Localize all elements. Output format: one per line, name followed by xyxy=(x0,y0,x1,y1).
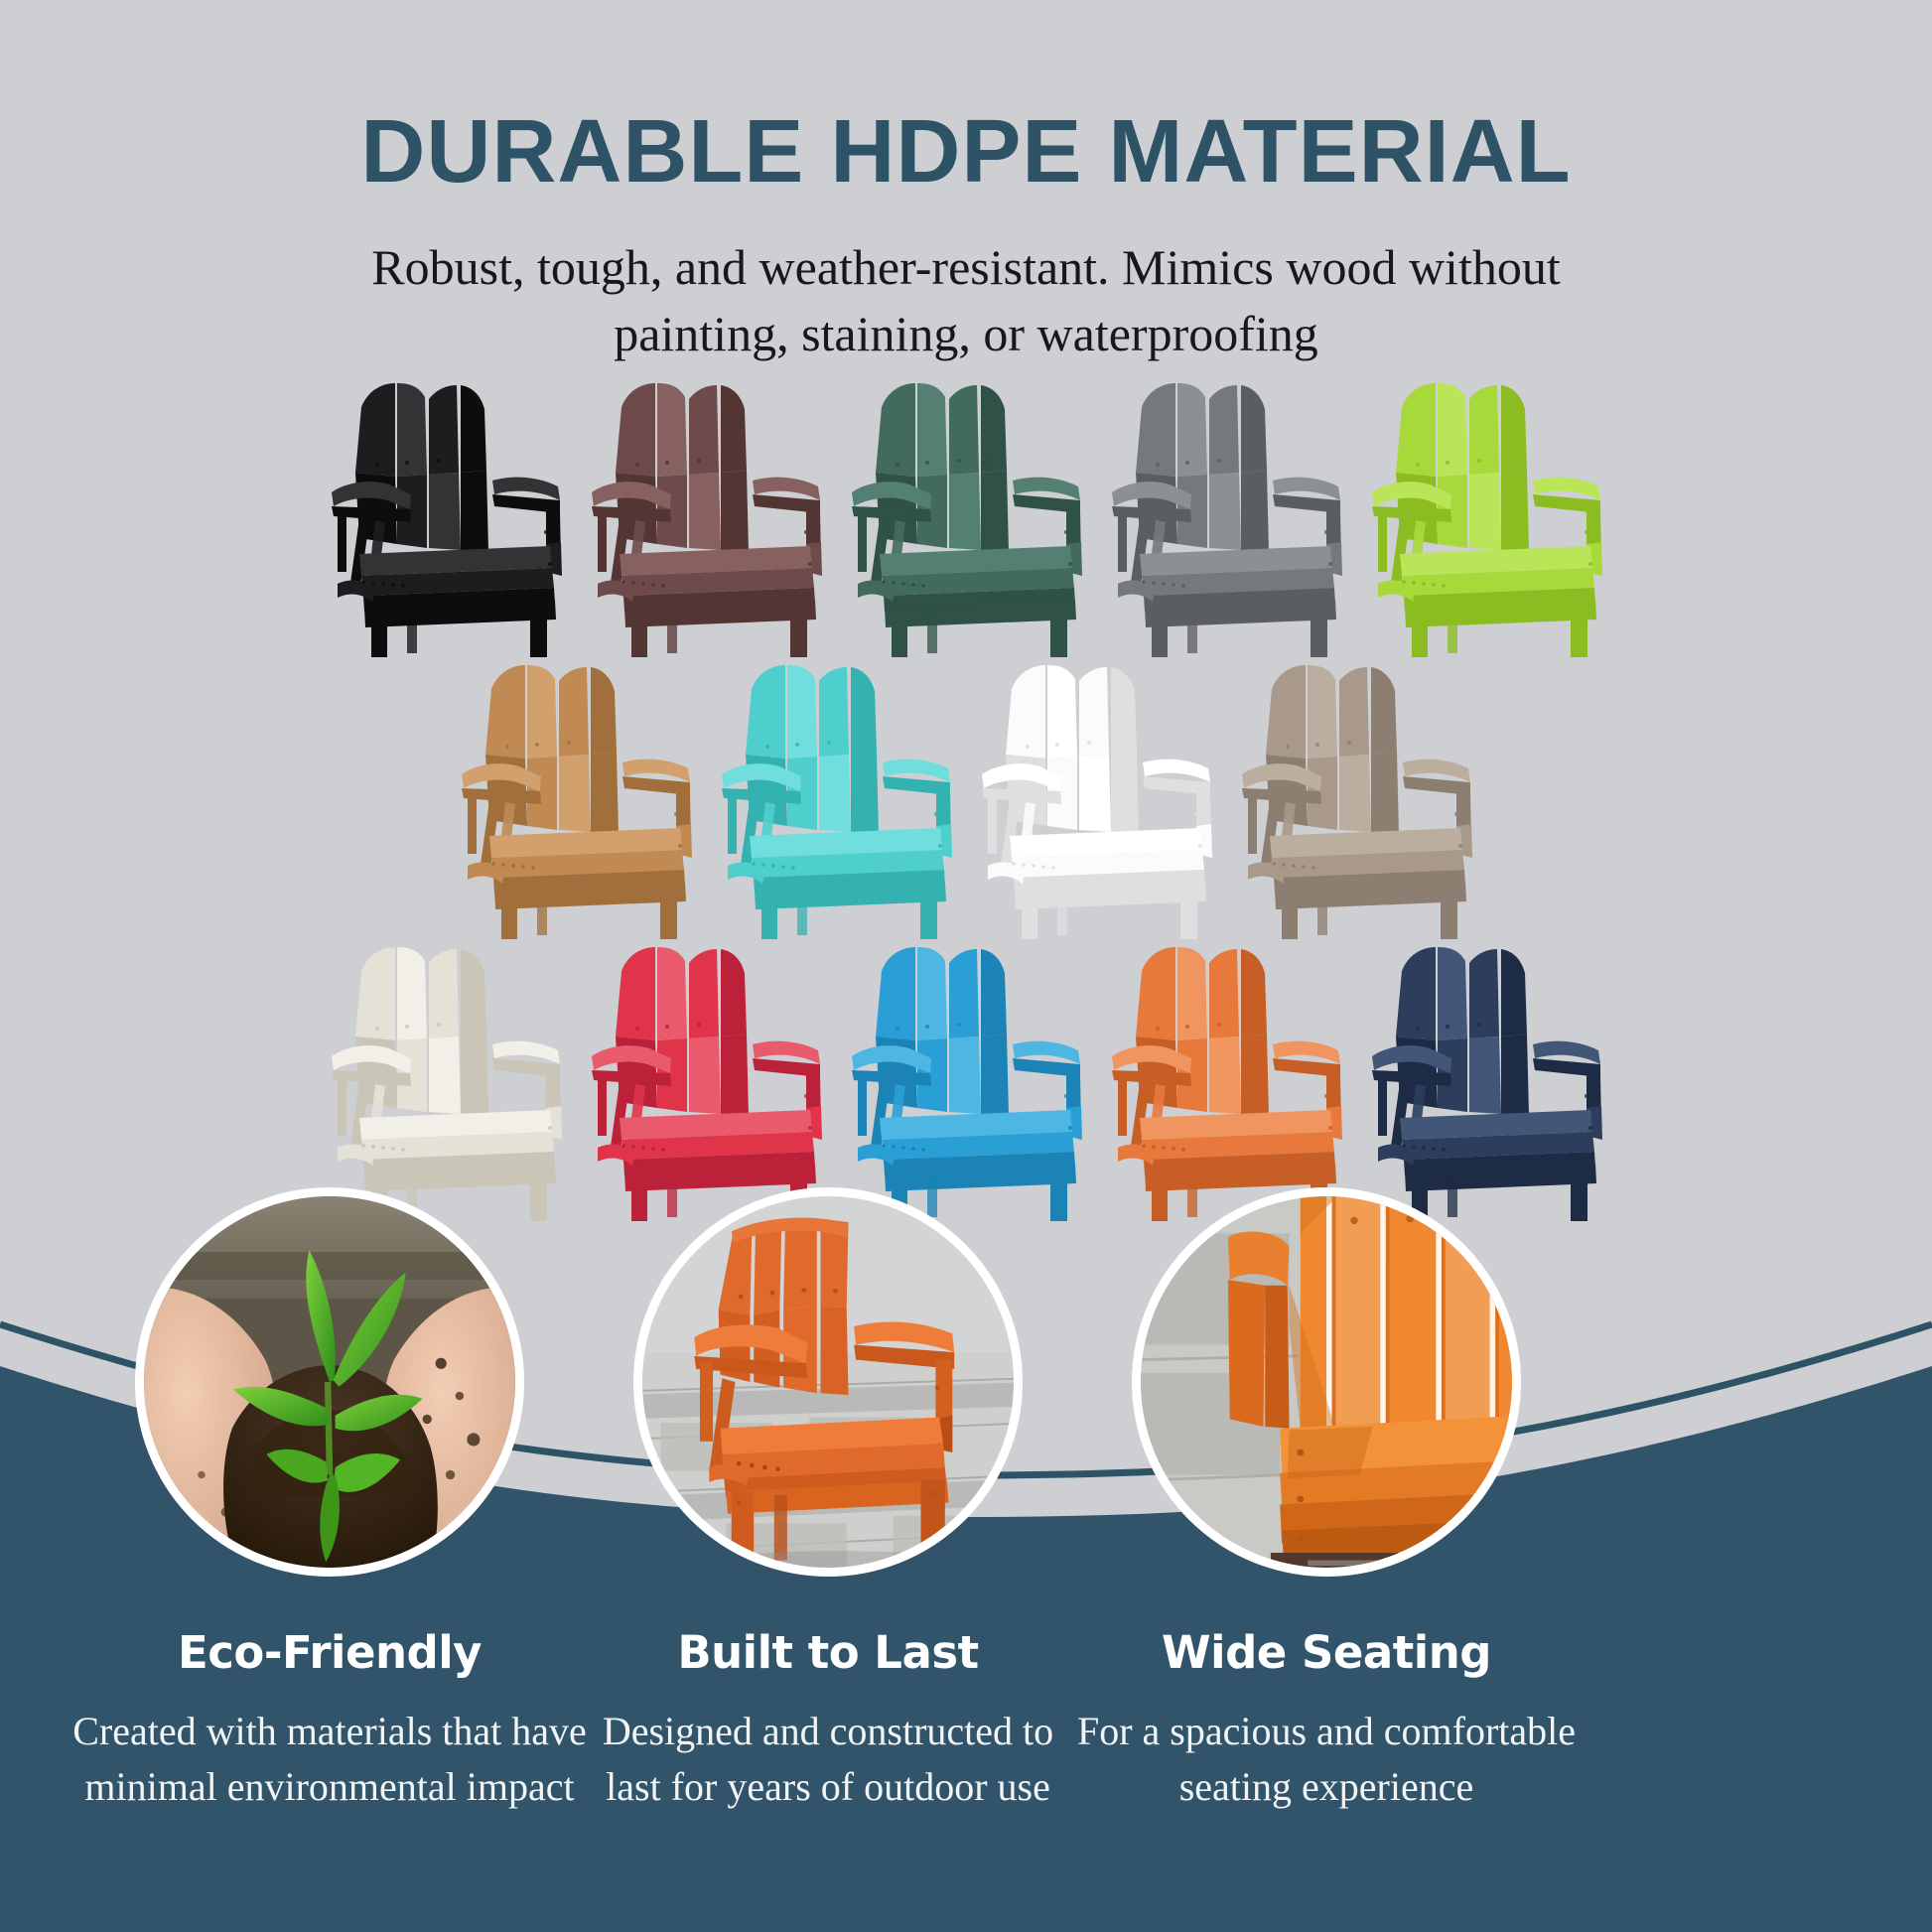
chair-right-armrest xyxy=(622,759,690,795)
feature-desc-line-1: Created with materials that have xyxy=(52,1704,608,1760)
hands-holding-seedling-icon xyxy=(144,1196,515,1568)
chair-right-armrest xyxy=(1143,759,1210,795)
feature-title: Wide Seating xyxy=(1048,1628,1604,1678)
chair-right-armrest xyxy=(753,478,820,513)
chair-right-armrest xyxy=(492,1041,560,1077)
feature-description: Designed and constructed to last for yea… xyxy=(550,1704,1106,1817)
orange-chair-seat-closeup-photo xyxy=(1141,1196,1512,1568)
chair-right-armrest xyxy=(1273,478,1340,513)
chair-right-armrest xyxy=(1013,1041,1080,1077)
adirondack-chair-black xyxy=(316,369,576,657)
chair-swatch-row-3 xyxy=(0,933,1932,1221)
chair-swatch-white[interactable] xyxy=(966,651,1226,939)
adirondack-chair-white xyxy=(966,651,1226,939)
chair-swatch-dark-brown[interactable] xyxy=(576,369,836,657)
feature-block-eco-friendly: Eco-Friendly Created with materials that… xyxy=(52,1628,608,1816)
hands-seedling-photo xyxy=(144,1196,515,1568)
chair-swatch-ivory[interactable] xyxy=(316,933,576,1221)
chair-swatch-blue[interactable] xyxy=(836,933,1096,1221)
chair-back-slats xyxy=(746,665,877,759)
feature-desc-line-2: last for years of outdoor use xyxy=(550,1759,1106,1816)
adirondack-chair-turquoise xyxy=(706,651,966,939)
chair-back-slats xyxy=(876,947,1007,1040)
chair-back-slats xyxy=(876,383,1007,477)
feature-title: Built to Last xyxy=(550,1628,1106,1678)
chair-back-slats xyxy=(355,383,486,477)
wide-seat-closeup-icon xyxy=(1141,1196,1512,1568)
feature-desc-line-1: For a spacious and comfortable xyxy=(1048,1704,1604,1760)
adirondack-chair-navy xyxy=(1356,933,1616,1221)
chair-swatch-navy[interactable] xyxy=(1356,933,1616,1221)
adirondack-chair-dark-brown xyxy=(576,369,836,657)
feature-description: Created with materials that have minimal… xyxy=(52,1704,608,1817)
chair-right-armrest xyxy=(753,1041,820,1077)
chair-swatch-black[interactable] xyxy=(316,369,576,657)
subtitle-line-1: Robust, tough, and weather-resistant. Mi… xyxy=(0,234,1932,301)
chair-swatch-weathered-wood[interactable] xyxy=(1226,651,1486,939)
chair-right-armrest xyxy=(492,478,560,513)
chair-back-slats xyxy=(1396,383,1527,477)
header-section: DURABLE HDPE MATERIAL Robust, tough, and… xyxy=(0,0,1932,367)
feature-image-built-to-last xyxy=(633,1187,1023,1577)
chair-back-slats xyxy=(1006,665,1137,759)
chair-swatch-row-1 xyxy=(0,369,1932,657)
feature-block-wide-seating: Wide Seating For a spacious and comforta… xyxy=(1048,1628,1604,1816)
chair-back-slats xyxy=(1136,383,1267,477)
chair-back-slats xyxy=(616,383,747,477)
chair-right-armrest xyxy=(1013,478,1080,513)
adirondack-chair-teak xyxy=(446,651,706,939)
chair-swatch-lime-green[interactable] xyxy=(1356,369,1616,657)
chair-swatch-red[interactable] xyxy=(576,933,836,1221)
feature-desc-line-2: minimal environmental impact xyxy=(52,1759,608,1816)
orange-chair-patio-photo xyxy=(642,1196,1014,1568)
feature-block-built-to-last: Built to Last Designed and constructed t… xyxy=(550,1628,1106,1816)
adirondack-chair-gray xyxy=(1096,369,1356,657)
chair-right-armrest xyxy=(1273,1041,1340,1077)
chair-right-armrest xyxy=(1533,1041,1600,1077)
page-title: DURABLE HDPE MATERIAL xyxy=(0,107,1932,197)
adirondack-chair-blue xyxy=(836,933,1096,1221)
chair-swatch-teak[interactable] xyxy=(446,651,706,939)
chair-back-slats xyxy=(616,947,747,1040)
page-subtitle: Robust, tough, and weather-resistant. Mi… xyxy=(0,234,1932,367)
chair-swatch-dark-green[interactable] xyxy=(836,369,1096,657)
feature-image-eco-friendly xyxy=(135,1187,524,1577)
chair-swatch-orange[interactable] xyxy=(1096,933,1356,1221)
feature-title: Eco-Friendly xyxy=(52,1628,608,1678)
chair-right-armrest xyxy=(883,759,950,795)
adirondack-chair-lime-green xyxy=(1356,369,1616,657)
subtitle-line-2: painting, staining, or waterproofing xyxy=(0,301,1932,367)
chair-back-slats xyxy=(1396,947,1527,1040)
adirondack-chair-weathered-wood xyxy=(1226,651,1486,939)
feature-desc-line-2: seating experience xyxy=(1048,1759,1604,1816)
adirondack-chair-red xyxy=(576,933,836,1221)
chair-swatch-gray[interactable] xyxy=(1096,369,1356,657)
adirondack-chair-dark-green xyxy=(836,369,1096,657)
chair-right-armrest xyxy=(1403,759,1470,795)
chair-swatch-turquoise[interactable] xyxy=(706,651,966,939)
chair-back-slats xyxy=(485,665,617,759)
chair-right-armrest xyxy=(1533,478,1600,513)
adirondack-chair-ivory xyxy=(316,933,576,1221)
chair-back-slats xyxy=(1266,665,1397,759)
chair-swatch-row-2 xyxy=(0,651,1932,939)
chair-back-slats xyxy=(355,947,486,1040)
feature-description: For a spacious and comfortable seating e… xyxy=(1048,1704,1604,1817)
adirondack-chair-orange xyxy=(1096,933,1356,1221)
orange-adirondack-chair-icon xyxy=(642,1196,1014,1568)
feature-image-wide-seating xyxy=(1132,1187,1521,1577)
feature-desc-line-1: Designed and constructed to xyxy=(550,1704,1106,1760)
chair-back-slats xyxy=(1136,947,1267,1040)
